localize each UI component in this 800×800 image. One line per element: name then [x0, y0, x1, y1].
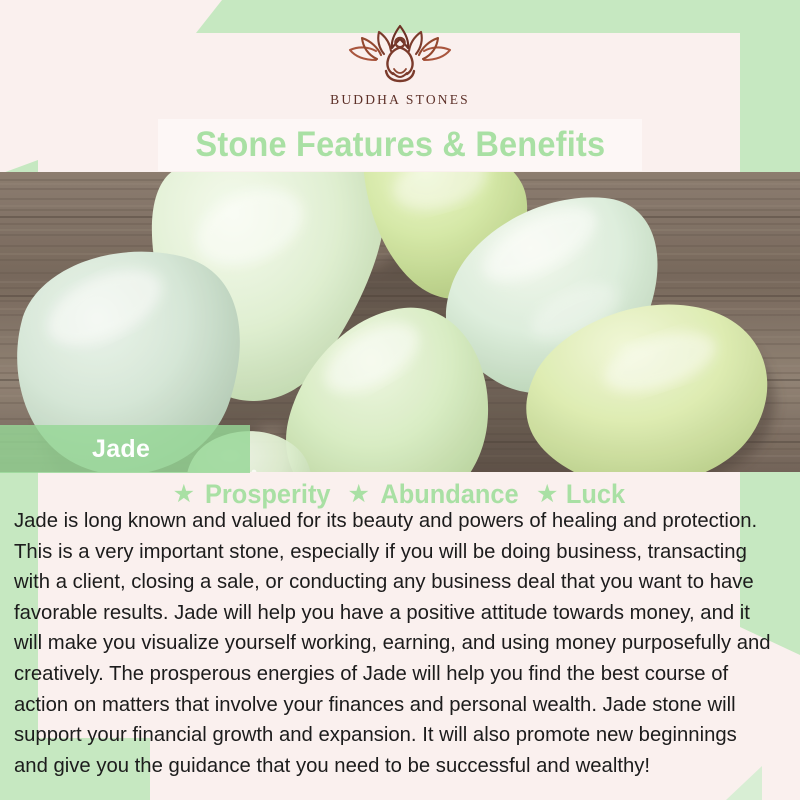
star-icon: ★ [536, 482, 558, 507]
benefit-label: Abundance [380, 479, 518, 510]
stone-name-tag: Jade [0, 425, 250, 473]
stone-name: Jade [92, 435, 150, 464]
benefit-item-abundance: ★ Abundance [348, 479, 523, 510]
title-banner: Stone Features & Benefits [158, 119, 642, 171]
star-icon: ★ [173, 482, 195, 507]
benefit-item-luck: ★ Luck [536, 479, 627, 510]
brand-logo: BUDDHA STONES [0, 24, 800, 120]
star-icon: ★ [348, 482, 370, 507]
description-block: Jade is long known and valued for its be… [14, 506, 774, 781]
benefit-item-prosperity: ★ Prosperity [173, 479, 335, 510]
brand-name: BUDDHA STONES [330, 92, 470, 108]
page-title: Stone Features & Benefits [195, 125, 605, 165]
benefit-label: Luck [566, 479, 625, 510]
description-text: Jade is long known and valued for its be… [14, 506, 774, 781]
benefit-label: Prosperity [205, 479, 331, 510]
lotus-meditation-figure-icon [346, 24, 454, 86]
